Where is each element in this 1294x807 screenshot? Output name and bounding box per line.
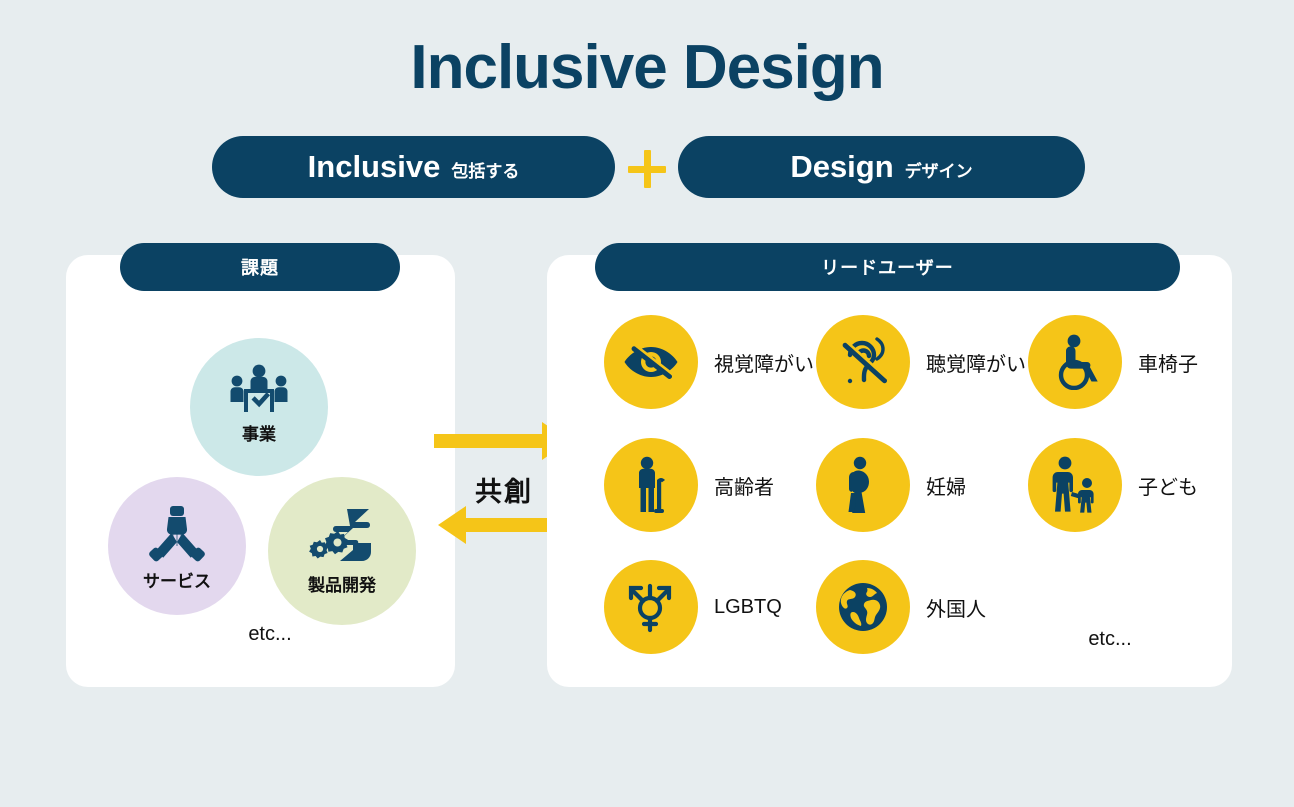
diagram-canvas: Inclusive Design Inclusive 包括する Design デ…	[0, 0, 1294, 807]
lead-user-label: 外国人	[926, 593, 986, 622]
issue-label-business: 事業	[242, 420, 276, 445]
pill-inclusive[interactable]: Inclusive 包括する	[212, 136, 615, 198]
panel-issues-heading: 課題	[120, 243, 400, 291]
pill-design[interactable]: Design デザイン	[678, 136, 1085, 198]
lead-user-label: 妊婦	[926, 471, 966, 500]
lead-user-pregnant[interactable]: 妊婦	[816, 438, 966, 532]
pregnant-woman-icon	[816, 438, 910, 532]
plus-icon	[628, 150, 666, 188]
lead-user-label: 視覚障がい	[714, 348, 814, 377]
meeting-people-icon	[227, 364, 291, 416]
page-title: Inclusive Design	[0, 34, 1294, 102]
elderly-cane-icon	[604, 438, 698, 532]
lead-users-etc-label: etc...	[1035, 628, 1185, 651]
transgender-icon	[604, 560, 698, 654]
lead-user-elderly[interactable]: 高齢者	[604, 438, 774, 532]
lead-user-children[interactable]: 子ども	[1028, 438, 1198, 532]
lead-user-label: 高齢者	[714, 471, 774, 500]
lead-user-visual-impairment[interactable]: 視覚障がい	[604, 315, 814, 409]
issue-circle-product[interactable]: 製品開発	[268, 477, 416, 625]
lead-user-label: 子ども	[1138, 471, 1198, 500]
globe-icon	[816, 560, 910, 654]
lead-user-lgbtq[interactable]: LGBTQ	[604, 560, 782, 654]
parent-child-icon	[1028, 438, 1122, 532]
panel-lead-users-heading: リードユーザー	[595, 243, 1180, 291]
pill-design-jp: デザイン	[905, 157, 973, 182]
lead-user-foreigner[interactable]: 外国人	[816, 560, 986, 654]
lead-user-label: 聴覚障がい	[926, 348, 1026, 377]
gears-arrow-icon	[309, 507, 375, 567]
lead-user-label: 車椅子	[1138, 348, 1198, 377]
pill-inclusive-jp: 包括する	[451, 157, 519, 182]
issue-circle-business[interactable]: 事業	[190, 338, 328, 476]
issue-circle-service[interactable]: サービス	[108, 477, 246, 615]
wheelchair-icon	[1028, 315, 1122, 409]
pill-design-en: Design	[790, 149, 893, 185]
lead-user-label: LGBTQ	[714, 596, 782, 619]
lead-user-hearing-impairment[interactable]: 聴覚障がい	[816, 315, 1026, 409]
ear-slash-icon	[816, 315, 910, 409]
handshake-icon	[146, 505, 208, 563]
issue-label-service: サービス	[143, 567, 211, 592]
eye-slash-icon	[604, 315, 698, 409]
pill-inclusive-en: Inclusive	[308, 149, 441, 185]
lead-user-wheelchair[interactable]: 車椅子	[1028, 315, 1198, 409]
issues-etc-label: etc...	[200, 623, 340, 646]
equation-row: Inclusive 包括する Design デザイン	[0, 136, 1294, 198]
issue-label-product: 製品開発	[308, 571, 376, 596]
